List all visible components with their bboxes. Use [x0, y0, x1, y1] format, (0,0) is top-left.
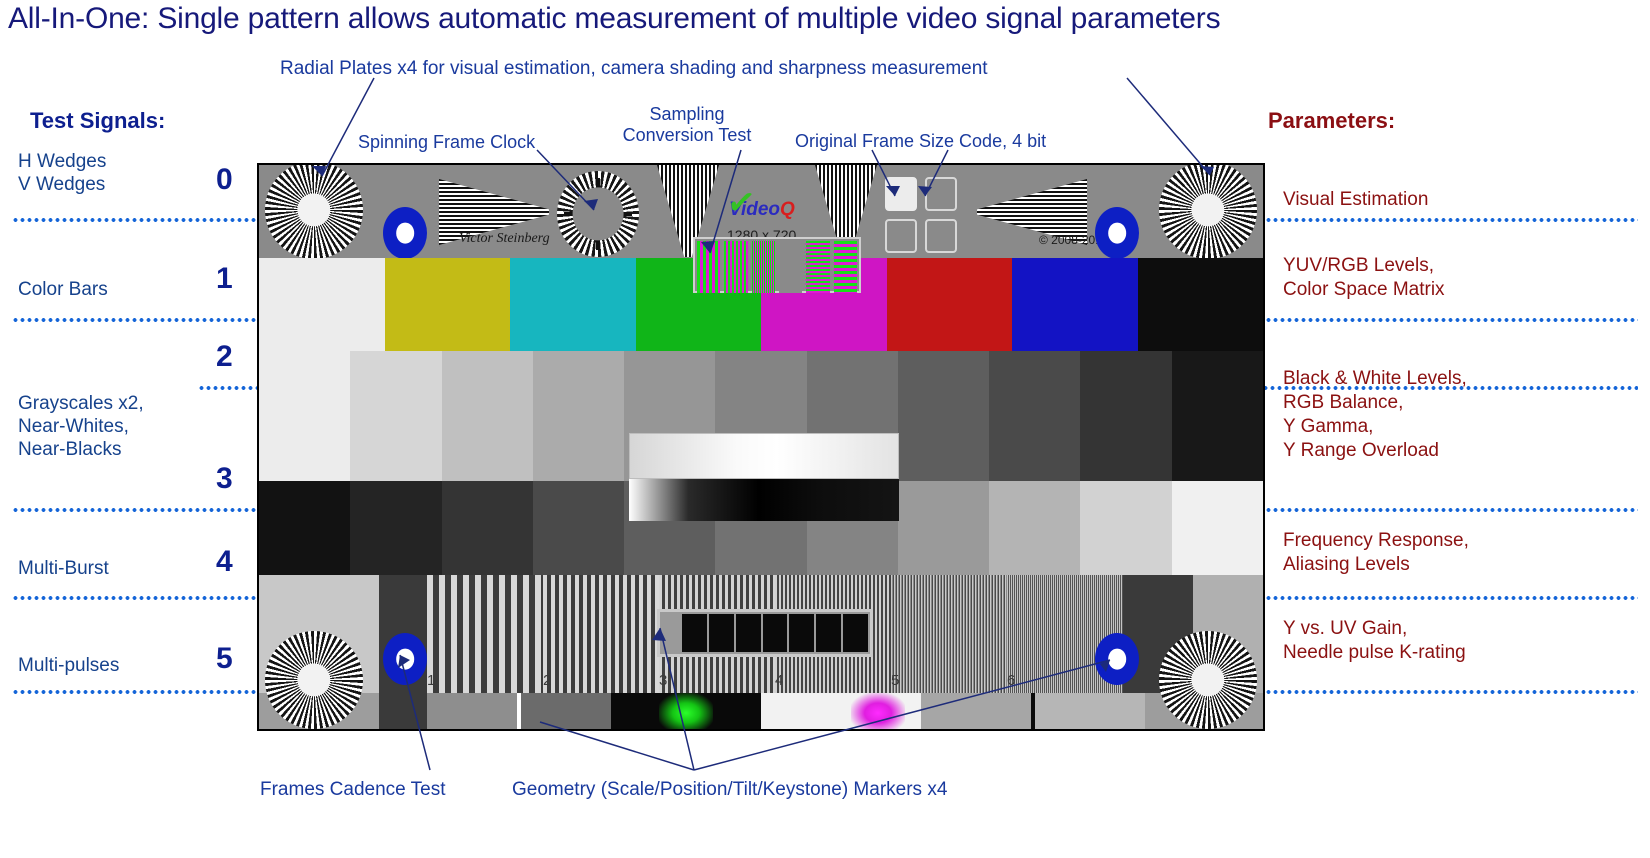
annotation-radial-plates: Radial Plates x4 for visual estimation, … [280, 58, 988, 80]
cadence-cell [682, 614, 707, 652]
near-whites-strip [629, 433, 899, 479]
signal-label-4: Multi-Burst [18, 557, 109, 580]
cadence-cell [816, 614, 841, 652]
crosshair-icon [1195, 197, 1220, 222]
gray-step-0 [259, 481, 350, 575]
gray-step-2 [442, 481, 533, 575]
clock-crosshair-icon [557, 171, 639, 257]
geometry-marker-top-left [383, 207, 427, 259]
page-title: All-In-One: Single pattern allows automa… [8, 2, 1648, 36]
pulse-seg-f [1035, 693, 1145, 731]
test-pattern-image: ✓VideoQ 1280 x 720 Victor Steinberg © 20… [257, 163, 1265, 731]
gray-step-1 [350, 351, 441, 481]
burst-number-4: 4 [775, 672, 783, 689]
author-text: Victor Steinberg [459, 231, 550, 247]
burst-pack-5 [891, 575, 1007, 693]
signal-label-0: H Wedges V Wedges [18, 150, 106, 196]
geometry-marker-bottom-left [383, 633, 427, 685]
color-bar-1 [385, 258, 511, 351]
videoq-logo: ✓VideoQ [729, 199, 795, 221]
signal-number-0: 0 [216, 163, 233, 197]
crosshair-icon [301, 197, 326, 222]
gray-step-1 [350, 481, 441, 575]
geometry-marker-top-right [1095, 207, 1139, 259]
annotation-frames-cadence-test: Frames Cadence Test [260, 779, 446, 801]
parameter-label-3: Frequency Response, Aliasing Levels [1283, 529, 1469, 577]
gray-step-2 [442, 351, 533, 481]
gray-step-8 [989, 481, 1080, 575]
signal-number-3: 3 [216, 462, 233, 496]
signal-number-1: 1 [216, 262, 233, 296]
spinning-frame-clock [557, 171, 639, 257]
logo-q: Q [780, 199, 795, 220]
color-bar-5 [887, 258, 1013, 351]
color-bar-6 [1012, 258, 1138, 351]
radial-plate-bottom-right [1159, 631, 1257, 729]
parameter-label-1: YUV/RGB Levels, Color Space Matrix [1283, 254, 1445, 302]
burst-number-1: 1 [427, 672, 435, 689]
pattern-row-multipulse [259, 693, 1263, 731]
parameters-header: Parameters: [1268, 108, 1395, 134]
gray-step-9 [1080, 481, 1171, 575]
crosshair-icon [301, 667, 326, 692]
sampling-group-5 [806, 241, 829, 293]
parameter-label-2: Black & White Levels, RGB Balance, Y Gam… [1283, 367, 1467, 463]
burst-pack-1 [427, 575, 543, 693]
burst-number-3: 3 [659, 672, 667, 689]
signal-number-4: 4 [216, 545, 233, 579]
gray-step-10 [1172, 481, 1263, 575]
parameter-label-4: Y vs. UV Gain, Needle pulse K-rating [1283, 617, 1466, 665]
radial-plate-top-right [1159, 163, 1257, 259]
annotation-spinning-frame-clock: Spinning Frame Clock [358, 132, 535, 153]
signal-label-1: Color Bars [18, 278, 108, 301]
cadence-cell [763, 614, 788, 652]
geometry-marker-bottom-right [1095, 633, 1139, 685]
burst-pack-2 [543, 575, 659, 693]
test-signals-header: Test Signals: [30, 108, 165, 134]
annotation-frame-size-code: Original Frame Size Code, 4 bit [795, 131, 1046, 152]
sampling-conversion-test-block [693, 237, 861, 293]
crosshair-icon [1195, 667, 1220, 692]
color-bar-2 [510, 258, 636, 351]
gray-step-10 [1172, 351, 1263, 481]
color-bar-7 [1138, 258, 1264, 351]
frame-size-bit-2 [885, 219, 917, 253]
burst-number-5: 5 [891, 672, 899, 689]
burst-number-6: 6 [1007, 672, 1015, 689]
pulse-seg-b [379, 693, 427, 731]
frame-size-bit-1 [925, 177, 957, 211]
annotation-geometry-markers: Geometry (Scale/Position/Tilt/Keystone) … [512, 779, 947, 801]
gray-step-8 [989, 351, 1080, 481]
burst-number-2: 2 [543, 672, 551, 689]
sampling-group-4 [779, 241, 802, 293]
sampling-group-1 [697, 241, 720, 293]
pulse-seg-c [427, 693, 519, 731]
magenta-pulse-bar [851, 693, 905, 731]
color-bar-0 [259, 258, 385, 351]
gray-step-3 [533, 481, 624, 575]
frames-cadence-test-block [657, 609, 873, 657]
check-icon: ✓ [724, 181, 758, 225]
leader-radial-left [322, 78, 374, 176]
signal-label-3: Grayscales x2, Near-Whites, Near-Blacks [18, 392, 144, 461]
sampling-group-2 [724, 241, 747, 293]
gray-step-7 [898, 481, 989, 575]
frame-size-bit-0 [885, 177, 917, 211]
near-blacks-strip [629, 479, 899, 521]
signal-label-5: Multi-pulses [18, 654, 119, 677]
radial-plate-bottom-left [265, 631, 363, 729]
signal-number-5: 5 [216, 642, 233, 676]
gray-step-0 [259, 351, 350, 481]
sampling-group-6 [834, 241, 857, 293]
signal-number-2: 2 [216, 340, 233, 374]
sampling-group-3 [752, 241, 775, 293]
pulse-seg-d [521, 693, 611, 731]
frame-size-bit-3 [925, 219, 957, 253]
leader-radial-right [1127, 78, 1210, 175]
annotation-sampling-conversion-test: Sampling Conversion Test [617, 104, 757, 146]
green-pulse-bar [659, 693, 713, 731]
cadence-cell [709, 614, 734, 652]
cadence-cell [789, 614, 814, 652]
pulse-seg-e [921, 693, 1031, 731]
gray-step-9 [1080, 351, 1171, 481]
cadence-cell [736, 614, 761, 652]
cadence-cell [843, 614, 868, 652]
parameter-label-0: Visual Estimation [1283, 188, 1428, 212]
gray-step-3 [533, 351, 624, 481]
clock-center-dot [589, 205, 607, 224]
gray-step-7 [898, 351, 989, 481]
radial-plate-top-left [265, 163, 363, 259]
